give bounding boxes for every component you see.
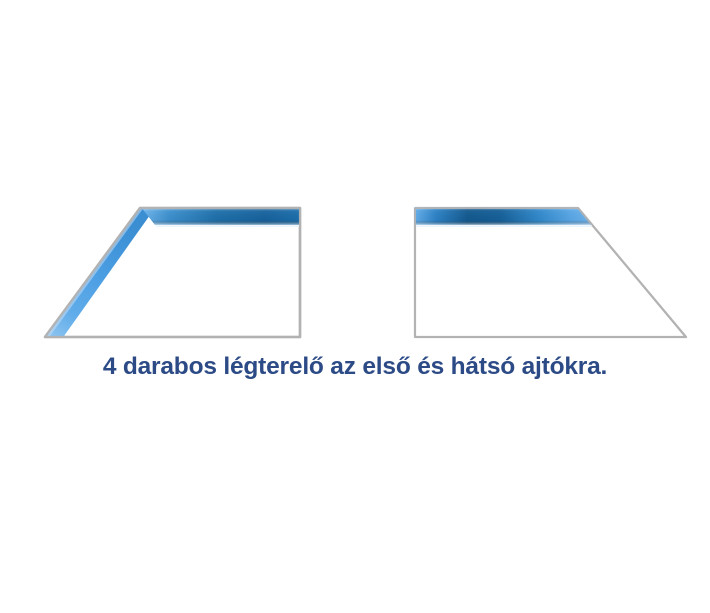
front-deflector-top-band-shade (141, 207, 300, 225)
front-panel-fill (45, 208, 300, 337)
rear-panel-fill (415, 208, 686, 337)
diagram-caption: 4 darabos légterelő az első és hátsó ajt… (0, 352, 710, 382)
diagram-stage: 4 darabos légterelő az első és hátsó ajt… (0, 0, 710, 613)
front-door-wind-deflector (45, 207, 300, 337)
wind-deflector-diagram (0, 0, 710, 613)
rear-deflector-top-band-shade (414, 207, 593, 225)
rear-door-wind-deflector (414, 207, 686, 337)
